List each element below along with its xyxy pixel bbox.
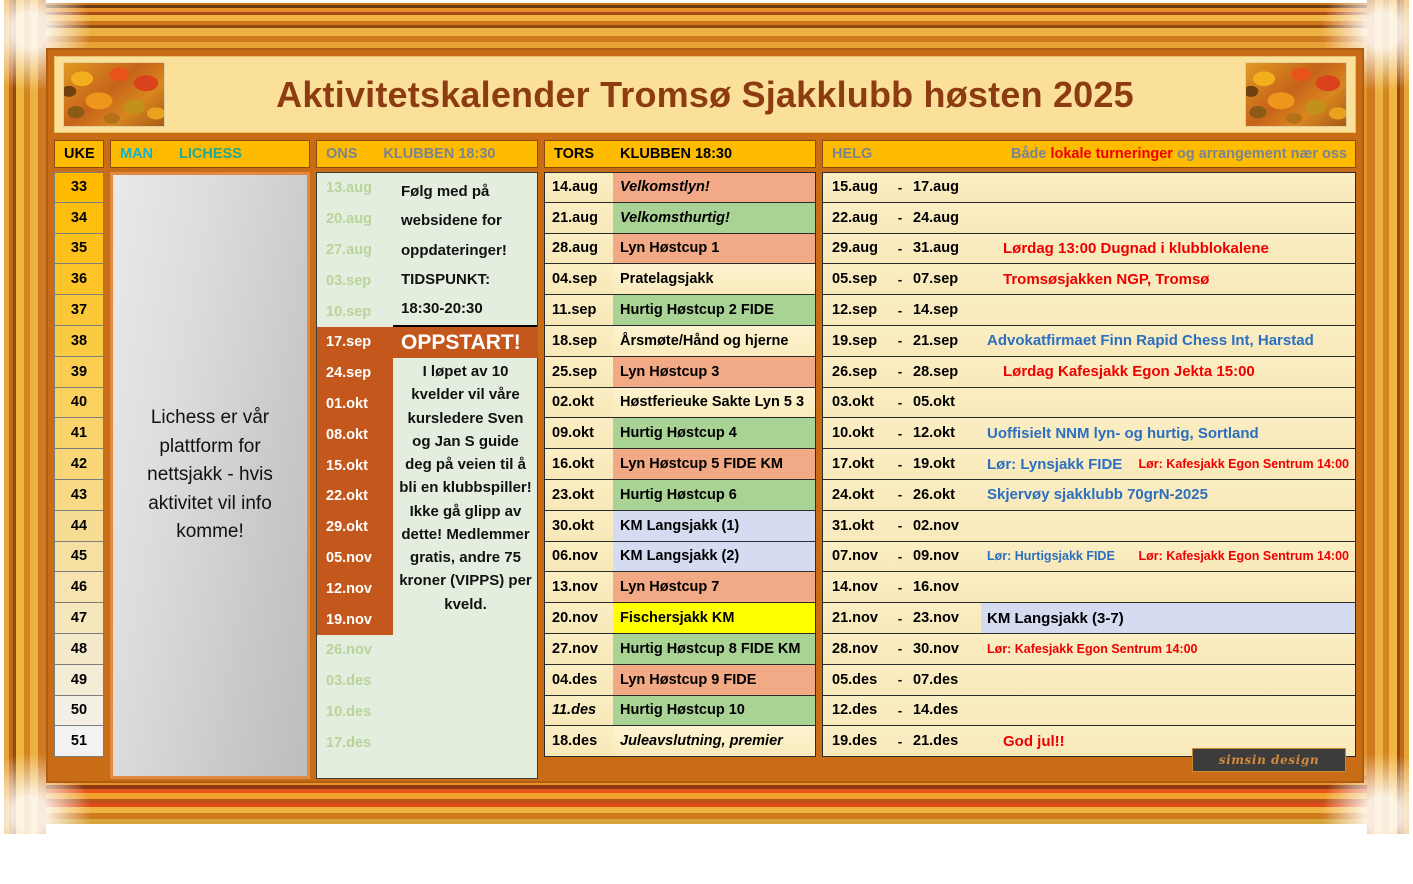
helg-date-to: 07.des [909,672,981,688]
week-number-cell: 40 [54,388,104,419]
tors-event-name: KM Langsjakk (2) [613,542,815,572]
tors-date: 14.aug [545,173,613,202]
watermark-text: simsin design [1219,753,1319,767]
helg-date-to: 31.aug [909,240,981,256]
helg-event-cell [981,511,1355,541]
tors-date: 13.nov [545,572,613,602]
tors-event-name: Lyn Høstcup 1 [613,234,815,264]
column-header-uke: UKE [54,140,104,168]
helg-row: 22.aug-24.aug [822,203,1356,234]
week-number-cell: 49 [54,665,104,696]
ons-date-cell: 19.nov [317,604,393,635]
helg-date-to: 12.okt [909,425,981,441]
tors-event-name: Lyn Høstcup 7 [613,572,815,602]
calendar-grid: UKE MAN LICHESS ONS KLUBBEN 18:30 TORS K… [54,140,1356,779]
helg-event-cell: Lør: Hurtigsjakk FIDELør: Kafesjakk Egon… [981,542,1355,572]
helg-row: 28.nov-30.novLør: Kafesjakk Egon Sentrum… [822,634,1356,665]
autumn-leaves-image-left [63,62,165,127]
helg-date-to: 14.des [909,702,981,718]
ons-date-cell: 20.aug [317,204,393,235]
ons-note-line: websidene for [401,206,531,235]
helg-date-separator: - [891,734,909,749]
helg-date-from: 14.nov [823,579,891,595]
ons-date-cell: 12.nov [317,573,393,604]
header-tors-label: TORS [545,146,594,162]
ons-oppstart-banner: OPPSTART! [393,327,538,358]
helg-date-to: 02.nov [909,518,981,534]
ons-date-cell: 10.sep [317,296,393,327]
tors-row: 16.oktLyn Høstcup 5 FIDE KM [544,449,816,480]
helg-date-to: 21.sep [909,333,981,349]
helg-date-to: 05.okt [909,394,981,410]
tors-date: 04.sep [545,264,613,294]
tors-event-name: Lyn Høstcup 9 FIDE [613,665,815,695]
helg-date-from: 03.okt [823,394,891,410]
helg-column: 15.aug-17.aug22.aug-24.aug29.aug-31.augL… [822,172,1356,757]
tors-row: 11.sepHurtig Høstcup 2 FIDE [544,295,816,326]
column-header-tors: TORS KLUBBEN 18:30 [544,140,816,168]
header-tors-time: KLUBBEN 18:30 [594,146,732,162]
week-number-column: 33343536373839404142434445464748495051 [54,172,104,757]
ons-course-description: I løpet av 10 kvelder vil våre kursleder… [393,358,538,658]
frame-bottom-band [0,776,1413,834]
ons-date-cell: 26.nov [317,635,393,666]
tors-event-name: Lyn Høstcup 3 [613,357,815,387]
tors-column: 14.augVelkomstlyn!21.augVelkomsthurtig!2… [544,172,816,757]
tors-event-name: Velkomstlyn! [613,173,815,202]
ons-date-cell: 22.okt [317,481,393,512]
tors-row: 02.oktHøstferieuke Sakte Lyn 5 3 [544,388,816,419]
week-number-cell: 33 [54,172,104,203]
helg-date-from: 05.sep [823,271,891,287]
helg-row: 12.sep-14.sep [822,295,1356,326]
week-number-cell: 51 [54,726,104,757]
ons-date-cell: 08.okt [317,419,393,450]
helg-date-to: 14.sep [909,302,981,318]
header-helg-note-1: Både [1011,146,1051,162]
week-number-cell: 37 [54,295,104,326]
helg-event-text: Lørdag Kafesjakk Egon Jekta 15:00 [981,363,1255,380]
helg-date-to: 17.aug [909,179,981,195]
ons-date-cell: 27.aug [317,235,393,266]
frame-top-band [0,0,1413,52]
helg-row: 14.nov-16.nov [822,572,1356,603]
helg-date-from: 19.des [823,733,891,749]
helg-date-separator: - [891,641,909,656]
helg-event-text: God jul!! [981,733,1065,750]
tors-date: 28.aug [545,234,613,264]
ons-date-cell: 24.sep [317,358,393,389]
helg-row: 07.nov-09.novLør: Hurtigsjakk FIDELør: K… [822,542,1356,573]
tors-row: 21.augVelkomsthurtig! [544,203,816,234]
helg-row: 19.sep-21.sepAdvokatfirmaet Finn Rapid C… [822,326,1356,357]
autumn-leaves-image-right [1245,62,1347,127]
tors-row: 30.oktKM Langsjakk (1) [544,511,816,542]
tors-event-name: Hurtig Høstcup 8 FIDE KM [613,634,815,664]
helg-event-text: Lør: Kafesjakk Egon Sentrum 14:00 [981,642,1197,656]
designer-watermark: simsin design [1192,748,1346,772]
helg-event-text: Lør: Lynsjakk FIDE [981,456,1122,473]
tors-event-name: Hurtig Høstcup 2 FIDE [613,295,815,325]
helg-date-separator: - [891,210,909,225]
helg-date-to: 09.nov [909,548,981,564]
helg-event-cell: Advokatfirmaet Finn Rapid Chess Int, Har… [981,326,1355,356]
tors-event-name: Juleavslutning, premier [613,726,815,756]
helg-row: 15.aug-17.aug [822,172,1356,203]
helg-date-to: 07.sep [909,271,981,287]
helg-event-cell [981,295,1355,325]
helg-row: 17.okt-19.oktLør: Lynsjakk FIDELør: Kafe… [822,449,1356,480]
ons-column: 13.aug20.aug27.aug03.sep10.sep17.sep24.s… [316,172,538,779]
title-bar: Aktivitetskalender Tromsø Sjakklubb høst… [54,56,1356,133]
helg-row: 31.okt-02.nov [822,511,1356,542]
column-header-ons: ONS KLUBBEN 18:30 [316,140,538,168]
helg-date-separator: - [891,303,909,318]
helg-date-from: 12.des [823,702,891,718]
helg-date-from: 26.sep [823,364,891,380]
header-helg-note-2: lokale turneringer [1050,146,1172,162]
ons-date-cell: 13.aug [317,173,393,204]
helg-date-separator: - [891,611,909,626]
helg-event-secondary-text: Lør: Kafesjakk Egon Sentrum 14:00 [1133,457,1349,471]
helg-date-separator: - [891,487,909,502]
helg-date-separator: - [891,457,909,472]
helg-row: 05.sep-07.sepTromsøsjakken NGP, Tromsø [822,264,1356,295]
tors-row: 04.sepPratelagsjakk [544,264,816,295]
ons-date-cell: 17.des [317,727,393,758]
tors-event-name: Lyn Høstcup 5 FIDE KM [613,449,815,479]
helg-row: 29.aug-31.augLørdag 13:00 Dugnad i klubb… [822,234,1356,265]
helg-date-separator: - [891,580,909,595]
tors-date: 30.okt [545,511,613,541]
tors-date: 20.nov [545,603,613,633]
column-header-helg: HELG Både lokale turneringer og arrangem… [822,140,1356,168]
tors-event-name: Hurtig Høstcup 10 [613,696,815,726]
helg-row: 05.des-07.des [822,665,1356,696]
tors-event-name: KM Langsjakk (1) [613,511,815,541]
helg-event-text: Uoffisielt NNM lyn- og hurtig, Sortland [981,425,1259,442]
tors-date: 18.sep [545,326,613,356]
tors-row: 18.sepÅrsmøte/Hånd og hjerne [544,326,816,357]
helg-date-from: 31.okt [823,518,891,534]
tors-row: 18.desJuleavslutning, premier [544,726,816,757]
tors-date: 16.okt [545,449,613,479]
helg-date-to: 24.aug [909,210,981,226]
header-ons-time: KLUBBEN 18:30 [357,146,495,162]
week-number-cell: 48 [54,634,104,665]
helg-date-separator: - [891,518,909,533]
tors-row: 23.oktHurtig Høstcup 6 [544,480,816,511]
week-number-cell: 45 [54,542,104,573]
helg-event-secondary-text: Lør: Kafesjakk Egon Sentrum 14:00 [1133,549,1349,563]
ons-date-cell: 17.sep [317,327,393,358]
header-uke-label: UKE [55,146,95,162]
week-number-cell: 47 [54,603,104,634]
tors-date: 11.des [545,696,613,726]
helg-date-separator: - [891,672,909,687]
tors-row: 04.desLyn Høstcup 9 FIDE [544,665,816,696]
helg-event-cell [981,572,1355,602]
ons-note-line: TIDSPUNKT: [401,265,531,294]
helg-event-cell: Lørdag 13:00 Dugnad i klubblokalene [981,234,1355,264]
helg-date-separator: - [891,333,909,348]
week-number-cell: 43 [54,480,104,511]
helg-date-separator: - [891,180,909,195]
ons-date-cell: 03.des [317,666,393,697]
tors-event-name: Hurtig Høstcup 6 [613,480,815,510]
helg-date-from: 07.nov [823,548,891,564]
helg-date-to: 26.okt [909,487,981,503]
tors-date: 04.des [545,665,613,695]
tors-row: 06.novKM Langsjakk (2) [544,542,816,573]
helg-row: 03.okt-05.okt [822,388,1356,419]
helg-event-cell [981,388,1355,418]
page-title: Aktivitetskalender Tromsø Sjakklubb høst… [173,74,1237,116]
tors-date: 27.nov [545,634,613,664]
helg-event-cell: Lør: Lynsjakk FIDELør: Kafesjakk Egon Se… [981,449,1355,479]
frame-right-band [1367,0,1413,834]
helg-event-cell: Lørdag Kafesjakk Egon Jekta 15:00 [981,357,1355,387]
tors-date: 02.okt [545,388,613,418]
tors-row: 14.augVelkomstlyn! [544,172,816,203]
header-lichess-label: LICHESS [153,146,242,162]
helg-date-from: 17.okt [823,456,891,472]
calendar-poster: Aktivitetskalender Tromsø Sjakklubb høst… [0,0,1413,834]
helg-date-from: 15.aug [823,179,891,195]
ons-date-cell: 15.okt [317,450,393,481]
week-number-cell: 39 [54,357,104,388]
week-number-cell: 35 [54,234,104,265]
tors-row: 27.novHurtig Høstcup 8 FIDE KM [544,634,816,665]
helg-event-cell: Skjervøy sjakklubb 70grN-2025 [981,480,1355,510]
helg-date-from: 21.nov [823,610,891,626]
tors-row: 20.novFischersjakk KM [544,603,816,634]
helg-date-separator: - [891,549,909,564]
helg-event-cell: Uoffisielt NNM lyn- og hurtig, Sortland [981,418,1355,448]
tors-row: 09.oktHurtig Høstcup 4 [544,418,816,449]
tors-date: 09.okt [545,418,613,448]
helg-date-from: 19.sep [823,333,891,349]
ons-date-cell: 05.nov [317,543,393,574]
ons-note-line: Følg med på [401,177,531,206]
tors-event-name: Høstferieuke Sakte Lyn 5 3 [613,388,815,418]
helg-event-text: Lørdag 13:00 Dugnad i klubblokalene [981,240,1269,257]
tors-row: 11.desHurtig Høstcup 10 [544,696,816,727]
helg-row: 24.okt-26.oktSkjervøy sjakklubb 70grN-20… [822,480,1356,511]
helg-event-cell [981,173,1355,202]
week-number-cell: 44 [54,511,104,542]
week-number-cell: 41 [54,418,104,449]
tors-event-name: Hurtig Høstcup 4 [613,418,815,448]
helg-event-cell [981,696,1355,726]
helg-date-to: 19.okt [909,456,981,472]
helg-event-cell [981,203,1355,233]
helg-date-from: 10.okt [823,425,891,441]
helg-date-from: 28.nov [823,641,891,657]
ons-date-cell: 29.okt [317,512,393,543]
tors-date: 11.sep [545,295,613,325]
helg-event-cell: Tromsøsjakken NGP, Tromsø [981,264,1355,294]
helg-date-separator: - [891,426,909,441]
helg-row: 10.okt-12.oktUoffisielt NNM lyn- og hurt… [822,418,1356,449]
header-ons-label: ONS [317,146,357,162]
helg-event-text: Lør: Hurtigsjakk FIDE [981,549,1115,563]
calendar-panel: Aktivitetskalender Tromsø Sjakklubb høst… [46,48,1364,783]
frame-left-band [0,0,46,834]
week-number-cell: 38 [54,326,104,357]
helg-date-to: 21.des [909,733,981,749]
week-number-cell: 46 [54,572,104,603]
helg-event-text: KM Langsjakk (3-7) [981,610,1124,627]
helg-date-separator: - [891,703,909,718]
lichess-info-text: Lichess er vår plattform for nettsjakk -… [113,404,307,547]
helg-date-separator: - [891,241,909,256]
helg-date-from: 22.aug [823,210,891,226]
tors-event-name: Årsmøte/Hånd og hjerne [613,326,815,356]
tors-date: 25.sep [545,357,613,387]
helg-date-to: 30.nov [909,641,981,657]
helg-event-text: Tromsøsjakken NGP, Tromsø [981,271,1209,288]
header-helg-note-3: og arrangement nær oss [1173,146,1347,162]
header-helg-label: HELG [823,146,872,162]
tors-date: 18.des [545,726,613,756]
helg-row: 12.des-14.des [822,696,1356,727]
helg-date-to: 23.nov [909,610,981,626]
column-header-man: MAN LICHESS [110,140,310,168]
helg-event-cell: Lør: Kafesjakk Egon Sentrum 14:00 [981,634,1355,664]
ons-note-line: 18:30-20:30 [401,294,531,323]
helg-date-from: 12.sep [823,302,891,318]
helg-event-cell [981,665,1355,695]
week-number-cell: 34 [54,203,104,234]
tors-date: 23.okt [545,480,613,510]
helg-date-separator: - [891,364,909,379]
tors-date: 06.nov [545,542,613,572]
tors-row: 25.sepLyn Høstcup 3 [544,357,816,388]
helg-date-to: 16.nov [909,579,981,595]
ons-date-cell: 03.sep [317,265,393,296]
helg-date-separator: - [891,395,909,410]
week-number-cell: 42 [54,449,104,480]
tors-date: 21.aug [545,203,613,233]
helg-date-from: 05.des [823,672,891,688]
ons-date-cell: 10.des [317,697,393,728]
helg-date-from: 29.aug [823,240,891,256]
week-number-cell: 50 [54,696,104,727]
helg-date-separator: - [891,272,909,287]
week-number-cell: 36 [54,264,104,295]
lichess-info-cell: Lichess er vår plattform for nettsjakk -… [110,172,310,779]
helg-date-from: 24.okt [823,487,891,503]
tors-row: 28.augLyn Høstcup 1 [544,234,816,265]
tors-event-name: Fischersjakk KM [613,603,815,633]
helg-row: 21.nov-23.novKM Langsjakk (3-7) [822,603,1356,634]
helg-row: 26.sep-28.sepLørdag Kafesjakk Egon Jekta… [822,357,1356,388]
ons-note-line: oppdateringer! [401,236,531,265]
helg-date-to: 28.sep [909,364,981,380]
tors-event-name: Velkomsthurtig! [613,203,815,233]
helg-event-text: Advokatfirmaet Finn Rapid Chess Int, Har… [981,332,1314,349]
ons-date-cell: 01.okt [317,389,393,420]
tors-row: 13.novLyn Høstcup 7 [544,572,816,603]
helg-event-text: Skjervøy sjakklubb 70grN-2025 [981,486,1208,503]
tors-event-name: Pratelagsjakk [613,264,815,294]
ons-note-block: Følg med på websidene for oppdateringer!… [393,173,537,327]
helg-event-cell: KM Langsjakk (3-7) [981,603,1355,633]
header-man-label: MAN [111,146,153,162]
